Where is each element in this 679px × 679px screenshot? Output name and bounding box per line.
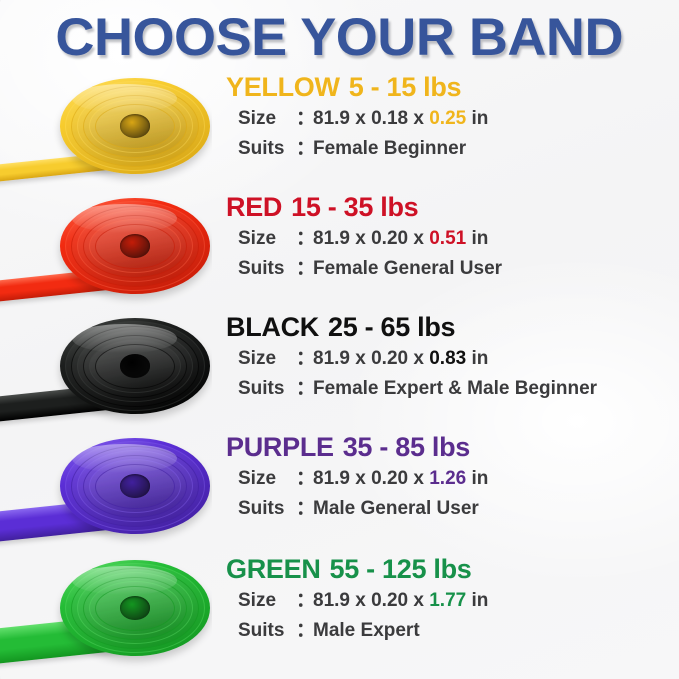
band-info-green: GREEN55 - 125 lbs Size：81.9 x 0.20 x 1.7…: [214, 554, 679, 674]
suits-colon: ：: [296, 375, 313, 402]
band-name-green: GREEN: [226, 554, 321, 584]
band-name-red: RED: [226, 192, 282, 222]
band-photo-green: [0, 554, 212, 674]
band-heading-red: RED15 - 35 lbs: [214, 192, 679, 222]
band-name-black: BLACK: [226, 312, 319, 342]
size-unit: in: [471, 105, 488, 132]
band-suits-row-black: Suits：Female Expert & Male Beginner: [214, 375, 679, 402]
band-row-purple: PURPLE35 - 85 lbs Size：81.9 x 0.20 x 1.2…: [0, 432, 679, 552]
size-thickness-green: 1.77: [429, 587, 466, 614]
band-info-red: RED15 - 35 lbs Size：81.9 x 0.20 x 0.51 i…: [214, 192, 679, 312]
band-coil-black: [8, 316, 212, 428]
band-size-row-purple: Size：81.9 x 0.20 x 1.26 in: [214, 465, 679, 492]
band-heading-purple: PURPLE35 - 85 lbs: [214, 432, 679, 462]
suits-label: Suits: [238, 375, 296, 402]
band-name-purple: PURPLE: [226, 432, 334, 462]
band-suits-row-purple: Suits：Male General User: [214, 495, 679, 522]
size-thickness-black: 0.83: [429, 345, 466, 372]
size-thickness-red: 0.51: [429, 225, 466, 252]
size-value-red: 81.9 x 0.20 x: [313, 225, 424, 252]
suits-value-yellow: Female Beginner: [313, 135, 466, 162]
band-resistance-purple: 35 - 85 lbs: [343, 432, 470, 462]
size-label: Size: [238, 105, 296, 132]
band-photo-purple: [0, 432, 212, 552]
band-resistance-green: 55 - 125 lbs: [330, 554, 472, 584]
size-unit: in: [471, 465, 488, 492]
band-row-yellow: YELLOW5 - 15 lbs Size：81.9 x 0.18 x 0.25…: [0, 72, 679, 192]
suits-label: Suits: [238, 255, 296, 282]
size-thickness-purple: 1.26: [429, 465, 466, 492]
band-size-row-red: Size：81.9 x 0.20 x 0.51 in: [214, 225, 679, 252]
size-unit: in: [471, 345, 488, 372]
band-size-row-green: Size：81.9 x 0.20 x 1.77 in: [214, 587, 679, 614]
band-coil-hub: [120, 596, 150, 619]
size-label: Size: [238, 345, 296, 372]
band-heading-green: GREEN55 - 125 lbs: [214, 554, 679, 584]
size-value-purple: 81.9 x 0.20 x: [313, 465, 424, 492]
band-info-yellow: YELLOW5 - 15 lbs Size：81.9 x 0.18 x 0.25…: [214, 72, 679, 192]
choose-your-band-infographic: CHOOSE YOUR BAND YELLOW5 - 15 lbs Size：8…: [0, 0, 679, 679]
band-coil-hub: [120, 474, 150, 497]
size-colon: ：: [296, 225, 313, 252]
band-resistance-black: 25 - 65 lbs: [328, 312, 455, 342]
band-coil-spiral: [60, 78, 210, 174]
band-coil-spiral: [60, 560, 210, 656]
band-info-purple: PURPLE35 - 85 lbs Size：81.9 x 0.20 x 1.2…: [214, 432, 679, 552]
size-colon: ：: [296, 105, 313, 132]
band-resistance-red: 15 - 35 lbs: [291, 192, 418, 222]
suits-colon: ：: [296, 255, 313, 282]
band-coil-hub: [120, 354, 150, 377]
band-coil-spiral: [60, 318, 210, 414]
page-title: CHOOSE YOUR BAND: [56, 8, 624, 68]
band-photo-red: [0, 192, 212, 312]
band-suits-row-green: Suits：Male Expert: [214, 617, 679, 644]
suits-label: Suits: [238, 135, 296, 162]
band-coil-hub: [120, 114, 150, 137]
page-title-container: CHOOSE YOUR BAND: [0, 8, 679, 68]
band-photo-yellow: [0, 72, 212, 192]
size-unit: in: [471, 225, 488, 252]
suits-value-red: Female General User: [313, 255, 502, 282]
suits-colon: ：: [296, 617, 313, 644]
band-coil-yellow: [8, 76, 212, 188]
size-label: Size: [238, 587, 296, 614]
band-coil-spiral: [60, 438, 210, 534]
size-thickness-yellow: 0.25: [429, 105, 466, 132]
suits-label: Suits: [238, 495, 296, 522]
size-value-green: 81.9 x 0.20 x: [313, 587, 424, 614]
band-size-row-yellow: Size：81.9 x 0.18 x 0.25 in: [214, 105, 679, 132]
size-label: Size: [238, 465, 296, 492]
suits-value-green: Male Expert: [313, 617, 420, 644]
suits-value-purple: Male General User: [313, 495, 479, 522]
band-name-yellow: YELLOW: [226, 72, 340, 102]
suits-colon: ：: [296, 135, 313, 162]
suits-label: Suits: [238, 617, 296, 644]
band-heading-black: BLACK25 - 65 lbs: [214, 312, 679, 342]
band-photo-black: [0, 312, 212, 432]
band-suits-row-yellow: Suits：Female Beginner: [214, 135, 679, 162]
size-label: Size: [238, 225, 296, 252]
band-suits-row-red: Suits：Female General User: [214, 255, 679, 282]
band-size-row-black: Size：81.9 x 0.20 x 0.83 in: [214, 345, 679, 372]
size-value-yellow: 81.9 x 0.18 x: [313, 105, 424, 132]
band-row-green: GREEN55 - 125 lbs Size：81.9 x 0.20 x 1.7…: [0, 554, 679, 674]
band-info-black: BLACK25 - 65 lbs Size：81.9 x 0.20 x 0.83…: [214, 312, 679, 432]
suits-colon: ：: [296, 495, 313, 522]
band-row-red: RED15 - 35 lbs Size：81.9 x 0.20 x 0.51 i…: [0, 192, 679, 312]
size-colon: ：: [296, 345, 313, 372]
band-heading-yellow: YELLOW5 - 15 lbs: [214, 72, 679, 102]
band-resistance-yellow: 5 - 15 lbs: [349, 72, 462, 102]
size-colon: ：: [296, 465, 313, 492]
size-unit: in: [471, 587, 488, 614]
band-coil-hub: [120, 234, 150, 257]
band-coil-purple: [8, 436, 212, 548]
size-colon: ：: [296, 587, 313, 614]
band-row-black: BLACK25 - 65 lbs Size：81.9 x 0.20 x 0.83…: [0, 312, 679, 432]
size-value-black: 81.9 x 0.20 x: [313, 345, 424, 372]
band-coil-spiral: [60, 198, 210, 294]
suits-value-black: Female Expert & Male Beginner: [313, 375, 597, 402]
band-coil-green: [8, 558, 212, 670]
band-coil-red: [8, 196, 212, 308]
